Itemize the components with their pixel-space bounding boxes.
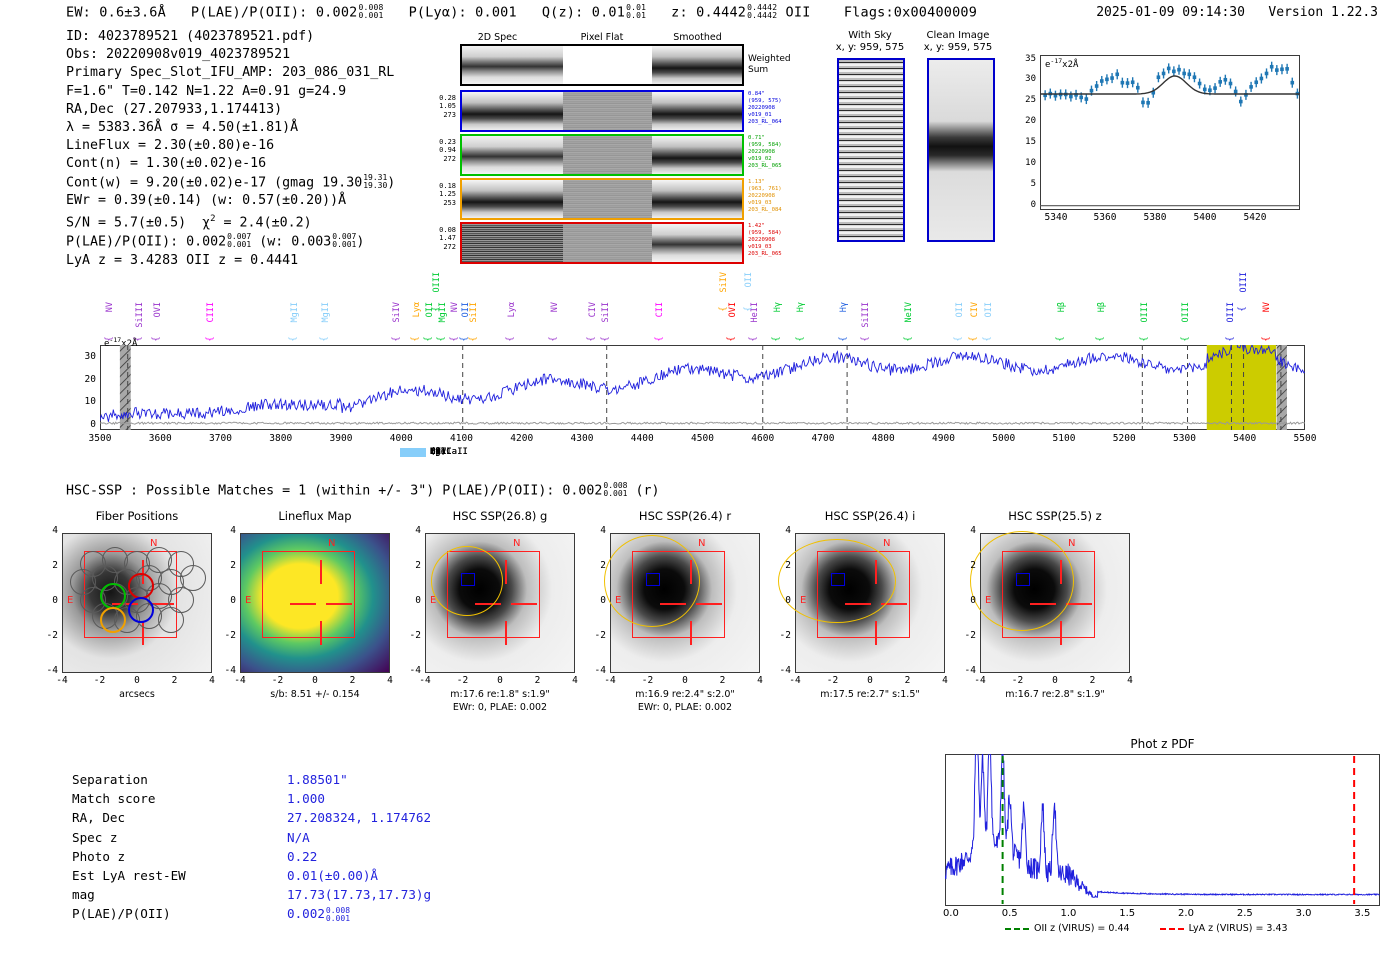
photz-legend-item: LyA z (VIRUS) = 3.43 <box>1160 923 1288 934</box>
info-obs: Obs: 20220908v019_4023789521 <box>66 46 395 64</box>
header-plae-frac: 0.0080.001 <box>358 4 383 21</box>
full-spectrum-ytick: 10 <box>74 396 96 407</box>
emission-line-label: OII <box>984 302 994 317</box>
emission-line-brace: { <box>424 336 434 341</box>
row-key: Spec z <box>72 828 287 847</box>
row-value: 0.01(±0.00)Å <box>287 868 378 883</box>
full-spectrum-xtick: 4500 <box>681 433 725 444</box>
photz-svg <box>945 754 1380 906</box>
full-spectrum-plot: NV{SiIII{OVI{CIII{MgII{MgII{SiIV{Lyα{OII… <box>100 280 1310 480</box>
table-row: P(LAE)/P(OII)0.0020.0080.001 <box>72 904 431 923</box>
emission-line-label: Hβ <box>1057 302 1067 312</box>
emission-line-brace: { <box>1226 336 1236 341</box>
emission-line-brace: { <box>772 336 782 341</box>
emission-line-brace: { <box>903 336 913 341</box>
emission-line-label: NV <box>550 302 560 312</box>
hsc-xtick: -2 <box>264 675 292 686</box>
table-row: Photo z0.22 <box>72 847 431 866</box>
compass-e-label: E <box>67 595 73 606</box>
spec2d-row-meta: 0.84"(959, 575)20220908v019_01203_RL_064 <box>748 91 782 126</box>
hsc-red-aperture-box <box>262 551 355 638</box>
line-fit-ytick: 15 <box>1016 137 1036 147</box>
hsc-crosshair-tick <box>505 560 507 584</box>
hsc-ytick: -4 <box>956 665 976 676</box>
hsc-crosshair-tick <box>875 621 877 645</box>
cutout-with-sky-title: With Skyx, y: 959, 575 <box>820 30 920 53</box>
hsc-xtick: -2 <box>86 675 114 686</box>
hsc-ytick: -2 <box>216 630 236 641</box>
hsc-xtick: 2 <box>161 675 189 686</box>
emission-line-label: MgII <box>438 302 448 322</box>
hsc-xtick: 2 <box>524 675 552 686</box>
info-redshifts: LyA z = 3.4283 OII z = 0.4441 <box>66 252 395 270</box>
table-row: Match score1.000 <box>72 789 431 808</box>
photz-legend-label: LyA z (VIRUS) = 3.43 <box>1189 923 1288 934</box>
hsc-headline-tail: (r) <box>636 483 660 498</box>
hsc-xtick: -2 <box>819 675 847 686</box>
emission-line-label: SiIV <box>392 302 402 322</box>
emission-line-brace: { <box>838 336 848 341</box>
hsc-ytick: 0 <box>956 595 976 606</box>
photz-xtick: 1.5 <box>1107 908 1147 919</box>
row-key: Separation <box>72 770 287 789</box>
emission-line-label: SiII <box>601 302 611 322</box>
emission-line-label: CII <box>655 302 665 317</box>
hsc-ytick: 4 <box>38 525 58 536</box>
hsc-xtick: 2 <box>709 675 737 686</box>
emission-line-brace: { <box>391 336 401 341</box>
emission-line-label: Lyα <box>412 302 422 317</box>
line-fit-ytick: 5 <box>1016 179 1036 189</box>
hsc-panel-footer: arcsecs <box>44 689 230 701</box>
hsc-xtick: 4 <box>1116 675 1144 686</box>
hsc-xtick: -4 <box>596 675 624 686</box>
hsc-headline-main: HSC-SSP : Possible Matches = 1 (within +… <box>66 483 554 498</box>
hsc-ytick: 2 <box>956 560 976 571</box>
hsc-panel-title: Fiber Positions <box>50 509 224 523</box>
hsc-ytick: -4 <box>401 665 421 676</box>
emission-line-label: NV <box>1262 302 1272 312</box>
row-value: 1.000 <box>287 791 325 806</box>
cutout-clean-image <box>927 58 995 242</box>
emission-line-brace: { <box>744 306 754 311</box>
hsc-xtick: -4 <box>226 675 254 686</box>
fiber-circle-highlighted <box>100 607 126 633</box>
hsc-crosshair-tick <box>290 603 316 605</box>
header-z-species: OII <box>786 4 811 20</box>
row-value-frac: 0.0080.001 <box>326 907 350 924</box>
info-seeing: F=1.6" T=0.142 N=1.22 A=0.91 g=24.9 <box>66 83 395 101</box>
hsc-xtick: -2 <box>449 675 477 686</box>
emission-line-brace: { <box>1056 336 1066 341</box>
hsc-crosshair-tick <box>505 621 507 645</box>
emission-line-brace: { <box>506 336 516 341</box>
emission-line-brace: { <box>655 336 665 341</box>
header-summary-line: EW: 0.6±3.6Å P(LAE)/P(OII): 0.0020.0080.… <box>66 4 977 21</box>
row-value: 17.73(17.73,17.73)g <box>287 887 431 902</box>
photz-xtick: 2.0 <box>1166 908 1206 919</box>
hsc-xtick: 4 <box>198 675 226 686</box>
hsc-ytick: 2 <box>586 560 606 571</box>
hsc-ytick: -2 <box>38 630 58 641</box>
row-key: Match score <box>72 789 287 808</box>
emission-line-label: OIII <box>1181 302 1191 322</box>
photz-xtick: 2.5 <box>1225 908 1265 919</box>
emission-line-label: MgII <box>290 302 300 322</box>
hsc-xtick: 0 <box>486 675 514 686</box>
hsc-xtick: 2 <box>894 675 922 686</box>
photz-legend-item: OII z (VIRUS) = 0.44 <box>1005 923 1130 934</box>
header-version: Version 1.22.3 <box>1268 5 1378 20</box>
hsc-ytick: 4 <box>956 525 976 536</box>
hsc-headline-plae: 0.002 <box>562 483 602 498</box>
full-spectrum-xtick: 3800 <box>259 433 303 444</box>
row-value: 1.88501" <box>287 772 348 787</box>
hsc-crosshair-tick <box>1066 603 1092 605</box>
full-spectrum-xtick: 3700 <box>199 433 243 444</box>
emission-line-label: NV <box>105 302 115 312</box>
table-row: Separation1.88501" <box>72 770 431 789</box>
hsc-ytick: 4 <box>401 525 421 536</box>
emission-line-label: NV <box>450 302 460 312</box>
full-spectrum-xtick: 3600 <box>138 433 182 444</box>
photz-pdf-plot: Phot z PDF 0.00.51.01.52.02.53.03.5 OII … <box>935 737 1390 942</box>
spec2d-row-meta: 1.13"(963, 761)20220908v019_03203_RL_084 <box>748 179 782 214</box>
header-plya: P(Lyα): 0.001 <box>409 4 517 20</box>
emission-line-brace: { <box>320 336 330 341</box>
emission-line-label: CIV <box>970 302 980 317</box>
emission-line-labels: NV{SiIII{OVI{CIII{MgII{MgII{SiIV{Lyα{OII… <box>100 280 1305 345</box>
hsc-xtick: -2 <box>634 675 662 686</box>
full-spectrum-xtick: 4900 <box>922 433 966 444</box>
emission-line-brace: { <box>206 336 216 341</box>
full-spectrum-xtick: 4300 <box>560 433 604 444</box>
row-value: 0.22 <box>287 849 317 864</box>
emission-line-brace: { <box>437 336 447 341</box>
info-cont-n: Cont(n) = 1.30(±0.02)e-16 <box>66 155 395 173</box>
compass-n-label: N <box>1068 538 1075 549</box>
hsc-ytick: 0 <box>216 595 236 606</box>
emission-line-label: MgII <box>321 302 331 322</box>
fiber-circle-highlighted <box>128 573 154 599</box>
full-spectrum-xtick: 5400 <box>1223 433 1267 444</box>
hsc-xtick: 4 <box>746 675 774 686</box>
header-plae-label: P(LAE)/P(OII): 0.002 <box>191 4 358 20</box>
emission-line-brace: { <box>727 336 737 341</box>
table-row: mag17.73(17.73,17.73)g <box>72 885 431 904</box>
emission-line-label: Hγ <box>796 302 806 312</box>
hsc-ytick: -4 <box>586 665 606 676</box>
hsc-crosshair-tick <box>320 560 322 584</box>
emission-line-label: SiIII <box>135 302 145 328</box>
hsc-center-marker <box>1016 573 1030 586</box>
hsc-ytick: -2 <box>586 630 606 641</box>
hsc-ytick: 0 <box>586 595 606 606</box>
emission-line-brace: { <box>1140 336 1150 341</box>
hsc-ytick: 2 <box>771 560 791 571</box>
hsc-xtick: 0 <box>856 675 884 686</box>
emission-line-label: OII <box>744 272 754 287</box>
header-qz: Q(z): 0.01 <box>542 4 625 20</box>
header-timestamp: 2025-01-09 09:14:30 <box>1096 5 1245 20</box>
cutout-with-sky-image <box>837 58 905 242</box>
photz-legend-dash <box>1160 928 1184 930</box>
legend-swatch <box>400 448 426 457</box>
hsc-panel-footer: m:16.9 re:2.4" s:2.0" <box>592 689 778 701</box>
emission-line-label: OIII <box>1226 302 1236 322</box>
emission-line-label: SiIV <box>719 272 729 292</box>
line-fit-xtick: 5380 <box>1135 212 1175 223</box>
hsc-ytick: -2 <box>771 630 791 641</box>
full-spectrum-xtick: 4200 <box>500 433 544 444</box>
info-cont-w: Cont(w) = 9.20(±0.02)e-17 (gmag 19.3019.… <box>66 174 395 193</box>
line-fit-ytick: 0 <box>1016 200 1036 210</box>
photz-xtick: 3.0 <box>1284 908 1324 919</box>
hsc-crosshair-tick <box>511 603 537 605</box>
full-spectrum-xtick: 4100 <box>440 433 484 444</box>
hsc-ytick: -4 <box>771 665 791 676</box>
emission-line-label: Hβ <box>1097 302 1107 312</box>
emission-line-label: SiIII <box>861 302 871 328</box>
hsc-panel-footer-2: EWr: 0, PLAE: 0.002 <box>592 702 778 714</box>
hsc-center-marker <box>646 573 660 586</box>
full-spectrum-xtick: 5500 <box>1283 433 1327 444</box>
spec2d-col-title-smoothed: Smoothed <box>645 32 750 43</box>
source-info-block: ID: 4023789521 (4023789521.pdf) Obs: 202… <box>66 28 395 270</box>
line-fit-xtick: 5420 <box>1235 212 1275 223</box>
hsc-ytick: 2 <box>401 560 421 571</box>
hsc-ytick: 2 <box>216 560 236 571</box>
hsc-xtick: -4 <box>411 675 439 686</box>
hsc-xtick: 0 <box>123 675 151 686</box>
hsc-xtick: 0 <box>671 675 699 686</box>
emission-line-brace: { <box>1096 336 1106 341</box>
full-spectrum-xtick: 4000 <box>379 433 423 444</box>
hsc-xtick: 2 <box>339 675 367 686</box>
line-fit-plot: e-17x2Å 0 5 10 15 20 25 30 35 5340 5360 … <box>1040 55 1300 210</box>
fiber-circle-highlighted <box>100 583 126 609</box>
hsc-xtick: -4 <box>48 675 76 686</box>
full-spectrum-xtick: 3500 <box>78 433 122 444</box>
emission-line-brace: { <box>450 336 460 341</box>
spec2d-row-stats: 0.281.05273 <box>428 94 456 119</box>
photz-xtick: 0.0 <box>931 908 971 919</box>
emission-line-label: CIII <box>206 302 216 322</box>
hsc-xtick: -4 <box>781 675 809 686</box>
full-spectrum-xtick: 5300 <box>1163 433 1207 444</box>
photz-legend-dash <box>1005 928 1029 930</box>
line-fit-svg <box>1040 55 1300 210</box>
fiber-circle <box>158 607 184 633</box>
full-spectrum-ytick: 0 <box>74 419 96 430</box>
line-fit-ytick: 20 <box>1016 116 1036 126</box>
line-fit-xtick: 5400 <box>1185 212 1225 223</box>
hsc-headline-frac: 0.0080.001 <box>603 482 627 499</box>
table-row: Est LyA rest-EW0.01(±0.00)Å <box>72 866 431 885</box>
match-table: Separation1.88501" Match score1.000 RA, … <box>72 770 431 924</box>
info-primary-spec: Primary Spec_Slot_IFU_AMP: 203_086_031_R… <box>66 64 395 82</box>
hsc-crosshair-tick <box>326 603 352 605</box>
row-key: mag <box>72 885 287 904</box>
hsc-ytick: -2 <box>956 630 976 641</box>
row-key: RA, Dec <box>72 808 287 827</box>
hsc-ytick: 2 <box>38 560 58 571</box>
full-spectrum-xtick: 4800 <box>861 433 905 444</box>
hsc-xtick: 0 <box>1041 675 1069 686</box>
fiber-circle-highlighted <box>128 597 154 623</box>
hsc-ytick: 4 <box>586 525 606 536</box>
hsc-ytick: -4 <box>216 665 236 676</box>
emission-line-label: OIII <box>1239 272 1249 292</box>
emission-line-brace: { <box>749 336 759 341</box>
hsc-panel-footer: m:16.7 re:2.8" s:1.9" <box>962 689 1148 701</box>
full-spectrum-svg <box>100 345 1305 430</box>
emission-line-brace: { <box>718 306 728 311</box>
full-spectrum-xtick: 5000 <box>982 433 1026 444</box>
line-fit-ytick: 35 <box>1016 54 1036 64</box>
emission-line-label: SiII <box>469 302 479 322</box>
compass-n-label: N <box>328 538 335 549</box>
hsc-panel-title: HSC SSP(25.5) z <box>968 509 1142 523</box>
row-value: 0.002 <box>287 906 325 921</box>
spec2d-weighted-sum-row <box>460 44 744 86</box>
emission-line-label: Hγ <box>773 302 783 312</box>
hsc-panel-footer: s/b: 8.51 +/- 0.154 <box>222 689 408 701</box>
header-meta: 2025-01-09 09:14:30 Version 1.22.3 <box>1096 5 1378 20</box>
emission-line-label: OVI <box>728 302 738 317</box>
full-spectrum-xtick: 5100 <box>1042 433 1086 444</box>
header-flags: Flags:0x00400009 <box>844 4 977 20</box>
header-qz-frac: 0.010.01 <box>626 4 646 21</box>
row-value: 27.208324, 1.174762 <box>287 810 431 825</box>
hsc-xtick: 4 <box>376 675 404 686</box>
emission-line-brace: { <box>1261 336 1271 341</box>
spec2d-col-title-2dspec: 2D Spec <box>440 32 555 43</box>
table-row: RA, Dec27.208324, 1.174762 <box>72 808 431 827</box>
info-lineflux: LineFlux = 2.30(±0.80)e-16 <box>66 137 395 155</box>
full-spectrum-xtick: 5200 <box>1102 433 1146 444</box>
hsc-ytick: 0 <box>771 595 791 606</box>
photz-legend-label: OII z (VIRUS) = 0.44 <box>1034 923 1130 934</box>
hsc-xtick: -4 <box>966 675 994 686</box>
full-spectrum-ytick: 30 <box>74 351 96 362</box>
hsc-crosshair-tick <box>1060 621 1062 645</box>
info-sn: S/N = 5.7(±0.5) χ2 = 2.4(±0.2) <box>66 210 395 233</box>
hsc-panel-footer-2: EWr: 0, PLAE: 0.002 <box>407 702 593 714</box>
emission-line-brace: { <box>1181 336 1191 341</box>
emission-line-label: OIII <box>432 272 442 292</box>
hsc-ytick: -2 <box>401 630 421 641</box>
hsc-ytick: 0 <box>401 595 421 606</box>
spec2d-col-title-pixelflat: Pixel Flat <box>552 32 652 43</box>
compass-n-label: N <box>698 538 705 549</box>
hsc-xtick: 2 <box>1079 675 1107 686</box>
emission-line-brace: { <box>411 336 421 341</box>
info-ewr: EWr = 0.39(±0.14) (w: 0.57(±0.20))Å <box>66 192 395 210</box>
emission-line-brace: { <box>861 336 871 341</box>
hsc-panel-title: Lineflux Map <box>228 509 402 523</box>
line-fit-ytick: 30 <box>1016 74 1036 84</box>
line-fit-ytick: 25 <box>1016 95 1036 105</box>
cutout-clean-title: Clean Imagex, y: 959, 575 <box>908 30 1008 53</box>
row-value: N/A <box>287 830 310 845</box>
emission-line-brace: { <box>983 336 993 341</box>
hsc-ytick: 4 <box>771 525 791 536</box>
hsc-crosshair-tick <box>696 603 722 605</box>
emission-line-label: NeIV <box>904 302 914 322</box>
table-row: Spec zN/A <box>72 828 431 847</box>
hsc-xtick: 4 <box>931 675 959 686</box>
hsc-center-marker <box>831 573 845 586</box>
emission-line-label: Lyα <box>507 302 517 317</box>
spec2d-row-stats: 0.081.47272 <box>428 226 456 251</box>
emission-line-label: HeII <box>750 302 760 322</box>
emission-line-brace: { <box>954 336 964 341</box>
emission-line-label: OIII <box>1140 302 1150 322</box>
hsc-headline: HSC-SSP : Possible Matches = 1 (within +… <box>66 482 660 499</box>
emission-line-brace: { <box>289 336 299 341</box>
emission-line-brace: { <box>1238 306 1248 311</box>
hsc-panel-title: HSC SSP(26.4) i <box>783 509 957 523</box>
emission-line-label: OVI <box>153 302 163 317</box>
hsc-ytick: -4 <box>38 665 58 676</box>
full-spectrum-xtick: 3900 <box>319 433 363 444</box>
compass-e-label: E <box>245 595 251 606</box>
info-plae: P(LAE)/P(OII): 0.0020.0070.001 (w: 0.003… <box>66 233 395 252</box>
legend-item: (H)CaII <box>400 447 468 457</box>
hsc-ytick: 4 <box>216 525 236 536</box>
emission-line-label: CIV <box>588 302 598 317</box>
full-spectrum-xtick: 4600 <box>741 433 785 444</box>
photz-xtick: 1.0 <box>1048 908 1088 919</box>
row-key: P(LAE)/P(OII) <box>72 904 287 923</box>
photz-xtick: 0.5 <box>990 908 1030 919</box>
emission-line-brace: { <box>969 336 979 341</box>
spec2d-weighted-sum-label: WeightedSum <box>748 54 791 75</box>
compass-n-label: N <box>883 538 890 549</box>
line-fit-xtick: 5340 <box>1036 212 1076 223</box>
hsc-panel-title: HSC SSP(26.8) g <box>413 509 587 523</box>
photz-legend: OII z (VIRUS) = 0.44LyA z (VIRUS) = 3.43 <box>1005 923 1288 934</box>
emission-line-brace: { <box>796 336 806 341</box>
line-fit-xtick: 5360 <box>1085 212 1125 223</box>
row-key: Photo z <box>72 847 287 866</box>
spec2d-row-stats: 0.181.25253 <box>428 182 456 207</box>
hsc-crosshair-tick <box>320 621 322 645</box>
full-spectrum-xtick: 4700 <box>801 433 845 444</box>
hsc-ytick: 0 <box>38 595 58 606</box>
header-ew: EW: 0.6±3.6Å <box>66 4 166 20</box>
info-id: ID: 4023789521 (4023789521.pdf) <box>66 28 395 46</box>
header-z: z: 0.4442 <box>671 4 746 20</box>
emission-line-brace: { <box>600 336 610 341</box>
hsc-panel-title: HSC SSP(26.4) r <box>598 509 772 523</box>
hsc-center-marker <box>461 573 475 586</box>
info-radec: RA,Dec (27.207933,1.174413) <box>66 101 395 119</box>
photz-title: Phot z PDF <box>935 737 1390 751</box>
emission-line-label: Hγ <box>839 302 849 312</box>
row-key: Est LyA rest-EW <box>72 866 287 885</box>
photz-xtick: 3.5 <box>1342 908 1382 919</box>
legend-label: (H)CaII <box>430 447 468 457</box>
emission-line-brace: { <box>152 336 162 341</box>
header-z-frac: 0.44420.4442 <box>747 4 777 21</box>
hsc-crosshair-tick <box>690 621 692 645</box>
hsc-xtick: 4 <box>561 675 589 686</box>
emission-line-brace: { <box>468 336 478 341</box>
hsc-xtick: 0 <box>301 675 329 686</box>
line-fit-ytick: 10 <box>1016 158 1036 168</box>
